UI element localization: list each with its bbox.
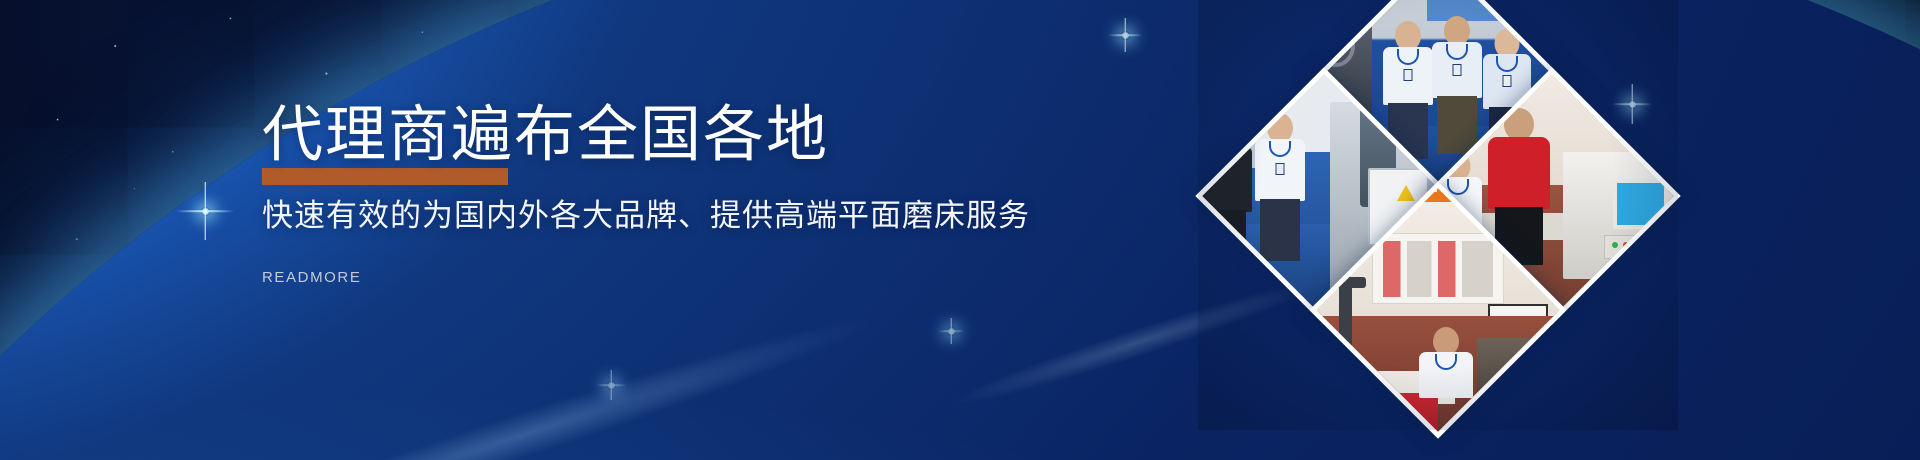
- readmore-link[interactable]: READMORE: [262, 269, 361, 286]
- green-button-icon: [1612, 242, 1618, 248]
- person-figure: [1252, 113, 1307, 323]
- hero-banner: 代理商遍布全国各地 快速有效的为国内外各大品牌、提供高端平面磨床服务 READM…: [0, 0, 1920, 460]
- hero-subtitle: 快速有效的为国内外各大品牌、提供高端平面磨床服务: [262, 199, 1022, 233]
- page-title: 代理商遍布全国各地: [262, 104, 829, 165]
- hero-copy-block: 代理商遍布全国各地 快速有效的为国内外各大品牌、提供高端平面磨床服务 READM…: [262, 104, 1022, 287]
- headline-wrap: 代理商遍布全国各地: [262, 104, 829, 165]
- diamond-photo-collage: [1238, 0, 1638, 390]
- lamp-arm: [1339, 282, 1353, 348]
- product-shelf: [1372, 233, 1504, 305]
- red-button-icon: [1623, 242, 1629, 248]
- warning-triangle-icon: [1397, 185, 1415, 201]
- headline-accent-underline: [262, 168, 508, 185]
